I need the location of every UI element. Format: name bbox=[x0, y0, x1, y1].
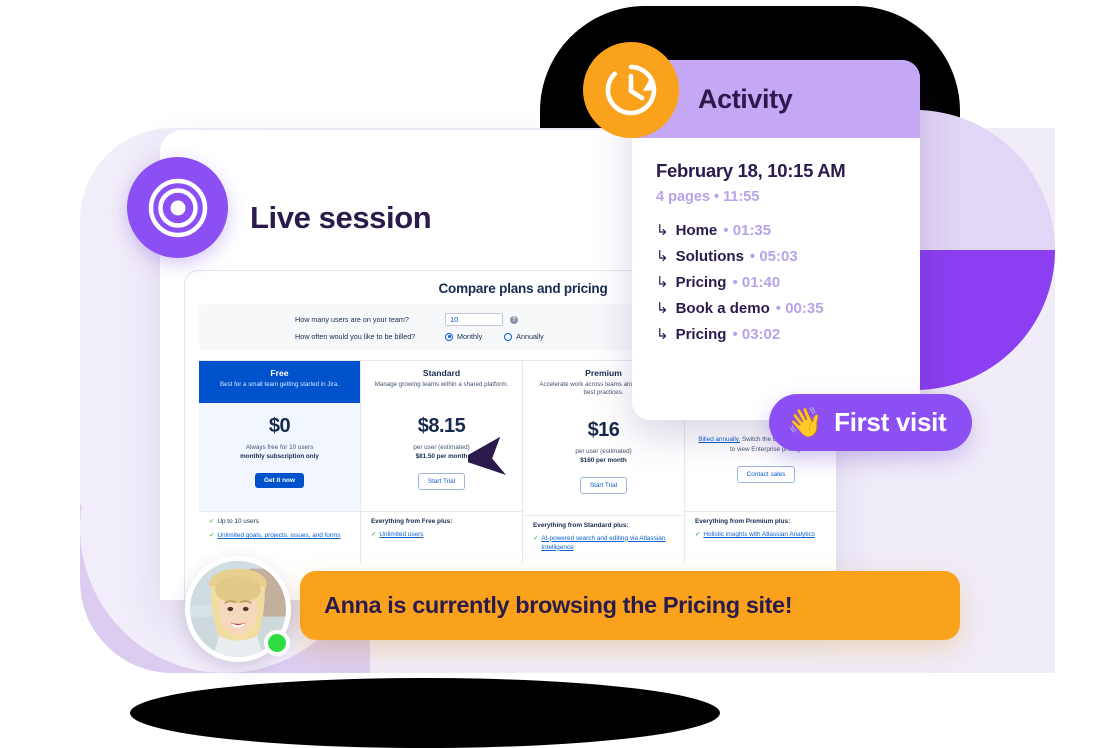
arrow-branch-icon: ↳ bbox=[656, 221, 669, 239]
plan-price-line2: $160 per month bbox=[580, 457, 627, 464]
activity-page-duration: • 01:40 bbox=[732, 274, 780, 291]
users-question-label: How many users are on your team? bbox=[295, 315, 445, 324]
feature-label[interactable]: Holistic insights with Atlassian Analyti… bbox=[703, 531, 815, 540]
feature-heading: Everything from Standard plus: bbox=[533, 522, 674, 529]
check-icon: ✓ bbox=[209, 518, 214, 527]
avatar bbox=[185, 556, 291, 662]
plan-price-line2: $81.50 per month bbox=[416, 453, 468, 460]
feature-heading: Everything from Premium plus: bbox=[695, 518, 836, 525]
clock-history-icon bbox=[583, 42, 679, 138]
plan-features-enterprise: Everything from Premium plus: ✓ Holistic… bbox=[685, 511, 836, 550]
decorative-shadow-bottom bbox=[130, 678, 720, 748]
list-item[interactable]: ↳ Home • 01:35 bbox=[656, 221, 896, 239]
list-item[interactable]: ↳ Book a demo • 00:35 bbox=[656, 299, 896, 317]
radio-selected-icon bbox=[445, 333, 453, 341]
activity-page-duration: • 05:03 bbox=[750, 248, 798, 265]
plan-name: Free bbox=[209, 368, 350, 378]
plan-price-line1: Always free for 10 users bbox=[246, 444, 314, 451]
billing-option-annually[interactable]: Annually bbox=[504, 332, 544, 341]
plan-features-free: ✓ Up to 10 users ✓ Unlimited goals, proj… bbox=[199, 511, 360, 551]
plan-cta-button[interactable]: Contact sales bbox=[737, 466, 796, 483]
activity-page-name: Home bbox=[676, 222, 718, 239]
duration-value: 01:35 bbox=[733, 222, 771, 239]
list-item[interactable]: ↳ Pricing • 03:02 bbox=[656, 325, 896, 343]
billing-question-label: How often would you like to be billed? bbox=[295, 332, 445, 341]
browsing-banner: Anna is currently browsing the Pricing s… bbox=[300, 571, 960, 640]
plan-price-sub: per user (estimated) $160 per month bbox=[533, 447, 674, 466]
bullseye-icon bbox=[127, 157, 228, 258]
plan-price-line1: per user (estimated) bbox=[575, 448, 631, 455]
bullet-separator: • bbox=[732, 326, 737, 343]
check-icon: ✓ bbox=[209, 532, 214, 541]
list-item[interactable]: ↳ Solutions • 05:03 bbox=[656, 247, 896, 265]
activity-date: February 18, 10:15 AM bbox=[656, 160, 896, 182]
plan-name: Standard bbox=[371, 368, 512, 378]
feature-label[interactable]: Unlimited goals, projects, issues, and f… bbox=[217, 532, 340, 541]
plan-column-free: Free Best for a small team getting start… bbox=[199, 361, 361, 563]
feature-heading: Everything from Free plus: bbox=[371, 518, 512, 525]
billing-option-annually-label: Annually bbox=[516, 332, 544, 341]
activity-page-name: Solutions bbox=[676, 248, 744, 265]
activity-page-name: Book a demo bbox=[676, 300, 770, 317]
plan-body-free: $0 Always free for 10 users monthly subs… bbox=[199, 403, 360, 511]
first-visit-badge: 👋 First visit bbox=[769, 394, 972, 451]
plan-price-sub: Always free for 10 users monthly subscri… bbox=[209, 443, 350, 462]
bullet-separator: • bbox=[732, 274, 737, 291]
feature-item: ✓ Holistic insights with Atlassian Analy… bbox=[695, 531, 836, 540]
plan-cta-button[interactable]: Start Trial bbox=[580, 477, 627, 494]
check-icon: ✓ bbox=[695, 531, 700, 540]
duration-value: 00:35 bbox=[785, 300, 823, 317]
duration-value: 01:40 bbox=[742, 274, 780, 291]
arrow-branch-icon: ↳ bbox=[656, 273, 669, 291]
plan-header-free: Free Best for a small team getting start… bbox=[199, 361, 360, 403]
plan-price-line2: monthly subscription only bbox=[240, 453, 319, 460]
check-icon: ✓ bbox=[371, 531, 376, 540]
decorative-half-circle bbox=[915, 110, 1055, 390]
users-input[interactable]: 10 bbox=[445, 313, 503, 326]
bullet-separator: • bbox=[750, 248, 755, 265]
billing-option-monthly[interactable]: Monthly bbox=[445, 332, 482, 341]
activity-title: Activity bbox=[698, 84, 792, 115]
feature-item: ✓ Unlimited goals, projects, issues, and… bbox=[209, 532, 350, 541]
activity-page-name: Pricing bbox=[676, 326, 727, 343]
feature-item: ✓ Unlimited users bbox=[371, 531, 512, 540]
feature-label[interactable]: Unlimited users bbox=[379, 531, 423, 540]
plan-price: $0 bbox=[209, 415, 350, 438]
first-visit-label: First visit bbox=[834, 407, 946, 438]
bullet-separator: • bbox=[776, 300, 781, 317]
bullet-separator: • bbox=[723, 222, 728, 239]
plan-description: Best for a small team getting started in… bbox=[209, 381, 350, 389]
activity-page-duration: • 01:35 bbox=[723, 222, 771, 239]
illustration-stage: Live session Compare plans and pricing H… bbox=[0, 0, 1103, 717]
online-status-indicator bbox=[264, 630, 290, 656]
plan-header-standard: Standard Manage growing teams within a s… bbox=[361, 361, 522, 403]
duration-value: 03:02 bbox=[742, 326, 780, 343]
page-title: Live session bbox=[250, 200, 431, 236]
plan-price-line1: per user (estimated) bbox=[413, 444, 469, 451]
arrow-branch-icon: ↳ bbox=[656, 247, 669, 265]
billed-annually-link[interactable]: Billed annually. bbox=[698, 436, 740, 443]
half-circle-bottom bbox=[915, 250, 1055, 390]
waving-hand-icon: 👋 bbox=[787, 406, 823, 440]
half-circle-top bbox=[915, 110, 1055, 250]
feature-label[interactable]: AI-powered search and editing via Atlass… bbox=[541, 535, 674, 553]
plan-features-premium: Everything from Standard plus: ✓ AI-powe… bbox=[523, 515, 684, 563]
mouse-cursor-icon bbox=[468, 428, 512, 480]
radio-unselected-icon bbox=[504, 333, 512, 341]
feature-item: ✓ Up to 10 users bbox=[209, 518, 350, 527]
activity-page-duration: • 03:02 bbox=[732, 326, 780, 343]
plan-cta-button[interactable]: Start Trial bbox=[418, 473, 465, 490]
check-icon: ✓ bbox=[533, 535, 538, 553]
plan-features-standard: Everything from Free plus: ✓ Unlimited u… bbox=[361, 511, 522, 550]
arrow-branch-icon: ↳ bbox=[656, 325, 669, 343]
plan-cta-button[interactable]: Get it now bbox=[255, 473, 304, 488]
plan-price: $16 bbox=[533, 419, 674, 442]
arrow-branch-icon: ↳ bbox=[656, 299, 669, 317]
feature-label: Up to 10 users bbox=[217, 518, 259, 527]
help-icon[interactable]: ? bbox=[510, 316, 518, 324]
billing-option-monthly-label: Monthly bbox=[457, 332, 482, 341]
plan-body-premium: $16 per user (estimated) $160 per month … bbox=[523, 407, 684, 515]
activity-page-list: ↳ Home • 01:35 ↳ Solutions • 05:03 bbox=[656, 221, 896, 343]
list-item[interactable]: ↳ Pricing • 01:40 bbox=[656, 273, 896, 291]
browsing-banner-text: Anna is currently browsing the Pricing s… bbox=[324, 592, 792, 619]
duration-value: 05:03 bbox=[759, 248, 797, 265]
activity-card-body: February 18, 10:15 AM 4 pages • 11:55 ↳ … bbox=[632, 138, 920, 343]
activity-page-name: Pricing bbox=[676, 274, 727, 291]
activity-meta: 4 pages • 11:55 bbox=[656, 189, 896, 205]
activity-page-duration: • 00:35 bbox=[776, 300, 824, 317]
plan-description: Manage growing teams within a shared pla… bbox=[371, 381, 512, 389]
activity-card: Activity February 18, 10:15 AM 4 pages •… bbox=[632, 60, 920, 420]
feature-item: ✓ AI-powered search and editing via Atla… bbox=[533, 535, 674, 553]
